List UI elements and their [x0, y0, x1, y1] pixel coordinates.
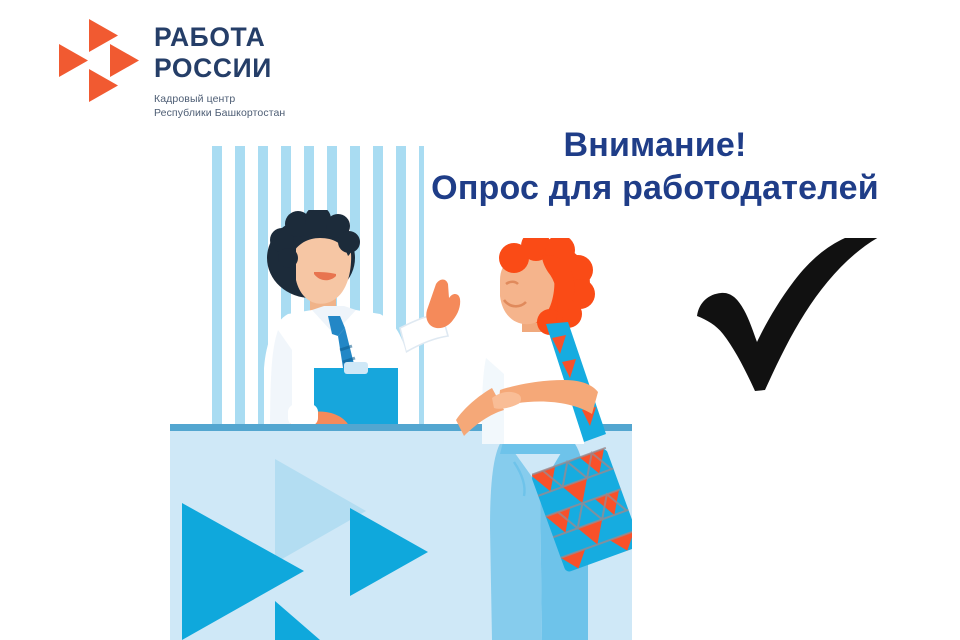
illustration-scene [170, 140, 632, 640]
rabota-rossii-logo: РАБОТА РОССИИ Кадровый центр Республики … [58, 16, 358, 126]
logo-subtitle-line2: Республики Башкортостан [154, 106, 364, 120]
logo-word-line2: РОССИИ [154, 53, 364, 84]
logo-subtitle-line1: Кадровый центр [154, 92, 364, 106]
check-mark-icon [693, 238, 883, 393]
shoulder-bag [532, 440, 632, 580]
poster-canvas: РАБОТА РОССИИ Кадровый центр Республики … [0, 0, 960, 640]
logo-wordmark: РАБОТА РОССИИ Кадровый центр Республики … [154, 22, 364, 120]
logo-subtitle: Кадровый центр Республики Башкортостан [154, 92, 364, 120]
rabota-rossii-mark-icon [58, 18, 142, 104]
logo-word-line1: РАБОТА [154, 22, 364, 53]
